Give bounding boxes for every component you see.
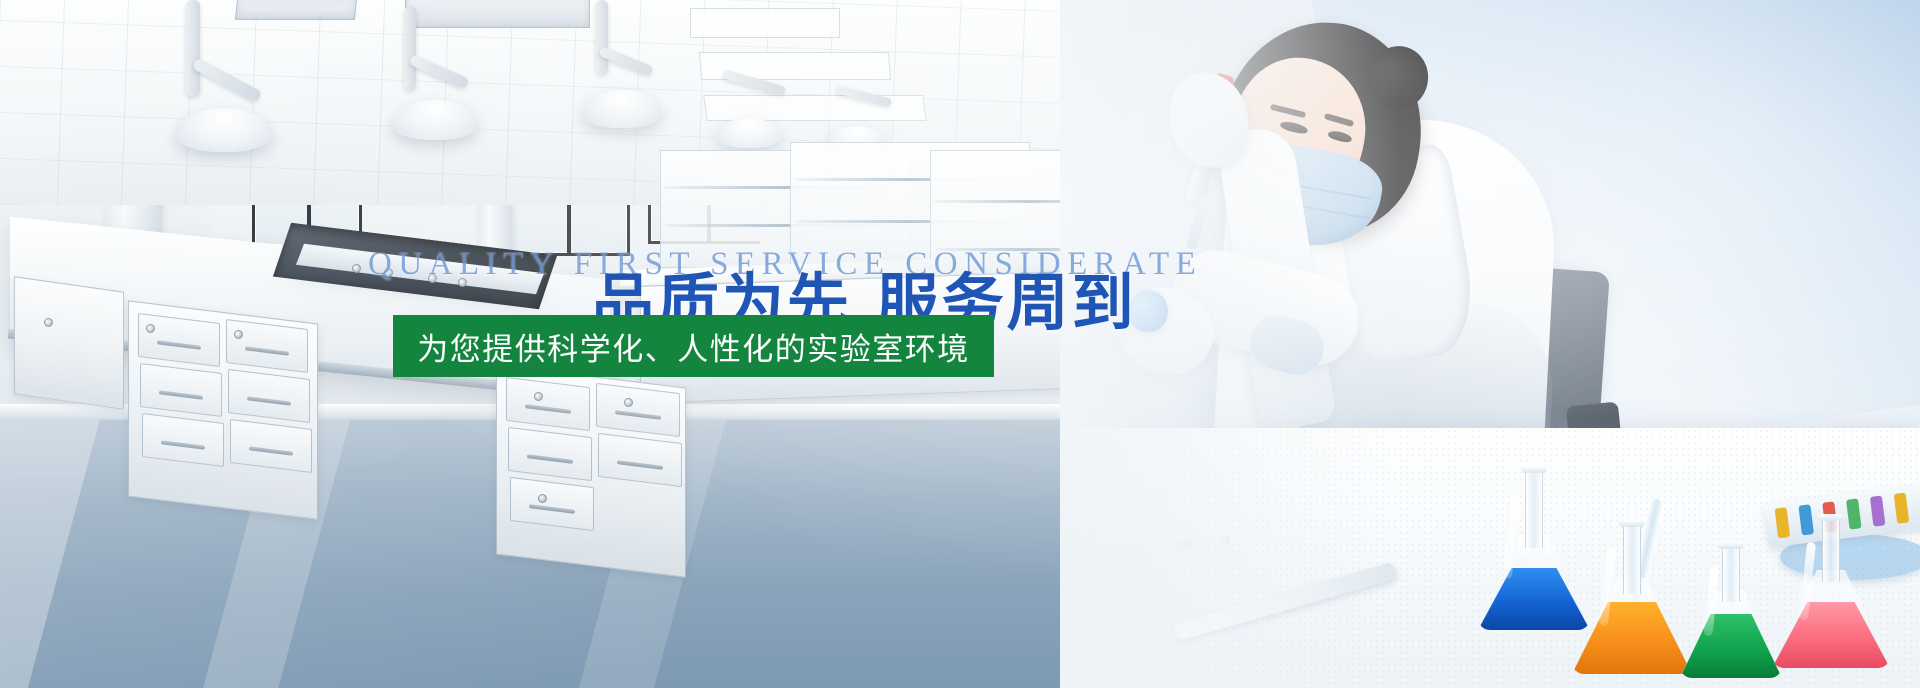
banner-copy: QUALITY FIRST SERVICE CONSIDERATE 品质为先 服… <box>0 0 1920 688</box>
subtitle-chinese: 为您提供科学化、人性化的实验室环境 <box>417 324 970 369</box>
subtitle-green-bar: 为您提供科学化、人性化的实验室环境 <box>393 315 994 377</box>
laboratory-hero-banner: QUALITY FIRST SERVICE CONSIDERATE 品质为先 服… <box>0 0 1920 688</box>
